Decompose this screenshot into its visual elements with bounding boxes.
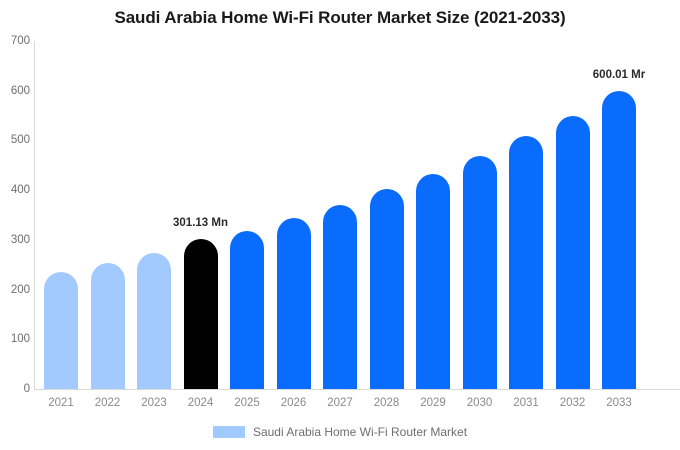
bar-series: 202120222023301.13 Mn2024202520262027202… bbox=[0, 0, 680, 450]
bar-value-label-2024: 301.13 Mn bbox=[173, 217, 228, 229]
x-axis-tick-2025: 2025 bbox=[230, 397, 264, 409]
x-axis-tick-2021: 2021 bbox=[44, 397, 78, 409]
bar-2033[interactable] bbox=[602, 91, 636, 389]
legend-swatch-saudi-arabia-home-wifi-router-market bbox=[213, 426, 245, 438]
x-axis-tick-2029: 2029 bbox=[416, 397, 450, 409]
bar-2023[interactable] bbox=[137, 253, 171, 389]
x-axis-tick-2027: 2027 bbox=[323, 397, 357, 409]
x-axis-tick-2024: 2024 bbox=[184, 397, 218, 409]
bar-2022[interactable] bbox=[91, 263, 125, 389]
bar-2025[interactable] bbox=[230, 231, 264, 389]
chart-legend: Saudi Arabia Home Wi-Fi Router Market bbox=[0, 425, 680, 439]
x-axis-tick-2023: 2023 bbox=[137, 397, 171, 409]
x-axis-tick-2026: 2026 bbox=[277, 397, 311, 409]
x-axis-tick-2030: 2030 bbox=[463, 397, 497, 409]
x-axis-tick-2031: 2031 bbox=[509, 397, 543, 409]
chart-container: Saudi Arabia Home Wi-Fi Router Market Si… bbox=[0, 0, 680, 450]
bar-2021[interactable] bbox=[44, 272, 78, 389]
legend-label-saudi-arabia-home-wifi-router-market: Saudi Arabia Home Wi-Fi Router Market bbox=[253, 425, 467, 439]
bar-2031[interactable] bbox=[509, 136, 543, 389]
x-axis-tick-2028: 2028 bbox=[370, 397, 404, 409]
bar-2028[interactable] bbox=[370, 189, 404, 389]
bar-2032[interactable] bbox=[556, 116, 590, 389]
bar-2024[interactable] bbox=[184, 239, 218, 389]
x-axis-tick-2022: 2022 bbox=[91, 397, 125, 409]
x-axis-tick-2033: 2033 bbox=[602, 397, 636, 409]
bar-2029[interactable] bbox=[416, 174, 450, 389]
bar-2026[interactable] bbox=[277, 218, 311, 389]
bar-2030[interactable] bbox=[463, 156, 497, 389]
bar-value-label-2033: 600.01 Mr bbox=[593, 69, 645, 81]
x-axis-tick-2032: 2032 bbox=[556, 397, 590, 409]
bar-2027[interactable] bbox=[323, 205, 357, 389]
